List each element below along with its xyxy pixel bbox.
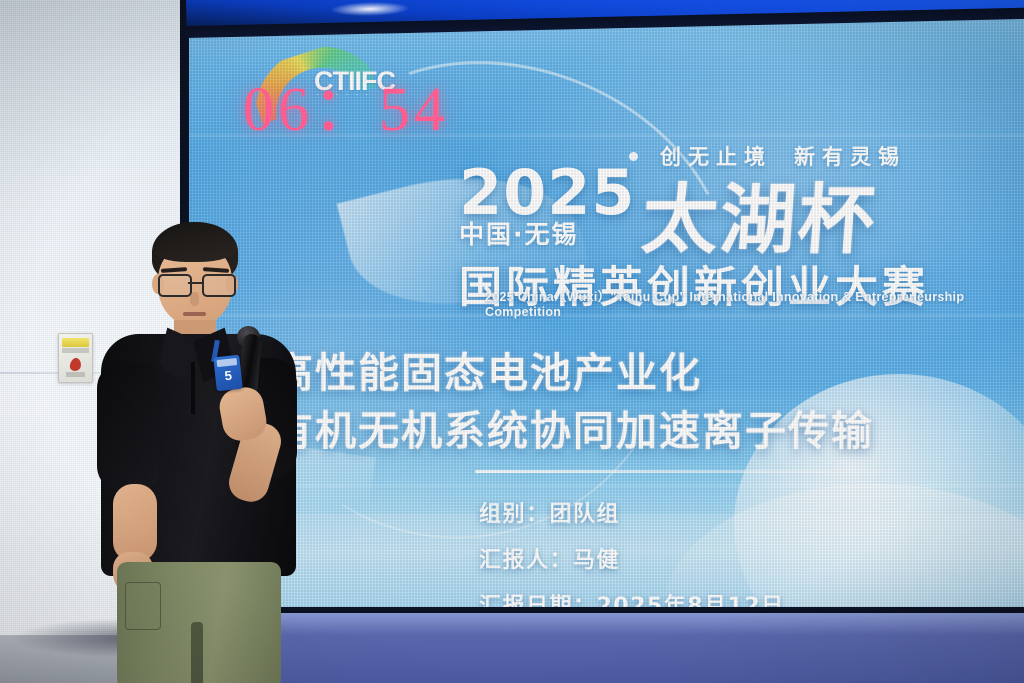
glasses-bridge: [188, 282, 202, 284]
hair-fringe: [153, 232, 237, 262]
shorts-inseam: [191, 622, 203, 683]
mouth: [183, 312, 206, 316]
countdown-timer: 06：54: [243, 58, 449, 148]
scanline: [189, 484, 1024, 487]
light-glint: [330, 1, 410, 17]
speaker-person: 5: [95, 222, 305, 683]
scanline: [189, 314, 1024, 317]
badge-number: 5: [215, 367, 242, 385]
presentation-photo: CTIIFC · · · · · · 创无止境 新有灵锡 2025 中国·无锡 …: [0, 0, 1024, 683]
sleeve-left: [97, 362, 159, 492]
badge-header-strip: [217, 358, 238, 367]
glasses-lens-right: [202, 274, 236, 297]
glasses-lens-left: [158, 274, 192, 297]
nose: [190, 292, 199, 306]
alarm-yellow-strip: [62, 338, 89, 347]
alarm-base-strip: [66, 372, 85, 377]
alarm-label-strip: [62, 348, 89, 353]
glasses: [157, 274, 234, 293]
speaker-badge: 5: [213, 355, 242, 392]
flame-icon: [69, 358, 81, 371]
shorts-pocket: [125, 582, 161, 630]
fire-alarm-call-point: [58, 333, 93, 383]
arm-left: [113, 484, 157, 562]
shirt-placket: [191, 362, 195, 414]
floor-sheen: [186, 613, 1024, 635]
